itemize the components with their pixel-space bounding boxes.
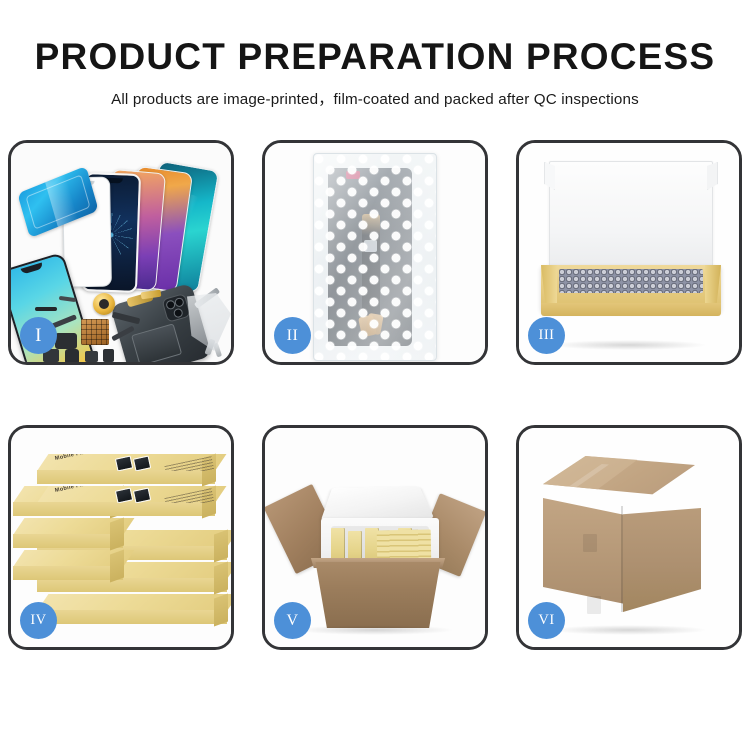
carton-side-face-icon [623, 508, 701, 612]
box-label-phone-icon [133, 487, 151, 503]
box-label-phone-icon [115, 487, 133, 503]
box-label-spec-lines [164, 488, 214, 503]
component-icon [55, 333, 77, 349]
component-icon [35, 307, 57, 311]
carton-seam-icon [621, 506, 623, 612]
component-icon [65, 349, 79, 362]
drop-shadow [550, 625, 708, 635]
step-badge-6: VI [528, 602, 565, 639]
process-step-panel-3[interactable]: III [516, 140, 742, 365]
speaker-coil-icon [93, 293, 115, 315]
component-icon [85, 351, 98, 362]
box-label-phone-icon [133, 455, 151, 471]
tray-front-face-icon [541, 303, 721, 316]
process-step-panel-1[interactable]: I [8, 140, 234, 365]
stacked-box [37, 594, 227, 624]
box-lid-icon [549, 161, 713, 279]
page-title: PRODUCT PREPARATION PROCESS [0, 0, 750, 76]
product-preparation-page: PRODUCT PREPARATION PROCESS All products… [0, 0, 750, 750]
box-label-spec-lines [164, 456, 214, 471]
step-badge-3: III [528, 317, 565, 354]
camera-module-icon [161, 293, 191, 323]
process-step-panel-4[interactable]: Mobile Phone Spare Parts Mobile Phone Sp… [8, 425, 234, 650]
step-badge-5: V [274, 602, 311, 639]
carton-handle-tab-icon [583, 534, 597, 552]
box-label-face: Mobile Phone Spare Parts [37, 454, 226, 471]
stacked-box-labeled: Mobile Phone Spare Parts [37, 454, 215, 484]
bubble-wrap-bag-icon [313, 153, 437, 361]
process-step-panel-2[interactable]: II [262, 140, 488, 365]
battery-icon [131, 323, 182, 362]
drop-shadow [296, 625, 454, 635]
process-step-panel-6[interactable]: VI [516, 425, 742, 650]
page-subtitle: All products are image-printed，film-coat… [0, 76, 750, 109]
bubble-wrapped-contents-icon [559, 269, 703, 293]
box-label-phone-icon [115, 455, 133, 471]
step-badge-1: I [20, 317, 57, 354]
foam-lid-icon [321, 486, 435, 521]
step-badge-2: II [274, 317, 311, 354]
page-header: PRODUCT PREPARATION PROCESS All products… [0, 0, 750, 109]
process-step-panel-5[interactable]: V [262, 425, 488, 650]
drop-shadow [550, 340, 708, 350]
box-label-face: Mobile Phone Spare Parts [37, 486, 226, 503]
stacked-box-labeled: Mobile Phone Spare Parts [37, 486, 215, 516]
chip-grid-icon [81, 319, 109, 345]
plastic-sheen-icon [314, 154, 436, 360]
foreground-phone-notch-icon [21, 262, 44, 274]
carton-body-icon [307, 562, 449, 628]
stacked-box [13, 550, 123, 580]
component-icon [103, 349, 114, 362]
sealed-carton-icon [543, 456, 719, 616]
process-step-grid: I II [8, 140, 742, 688]
stacked-box [13, 518, 123, 548]
carton-handle-tab-icon [587, 596, 601, 614]
step-badge-4: IV [20, 602, 57, 639]
